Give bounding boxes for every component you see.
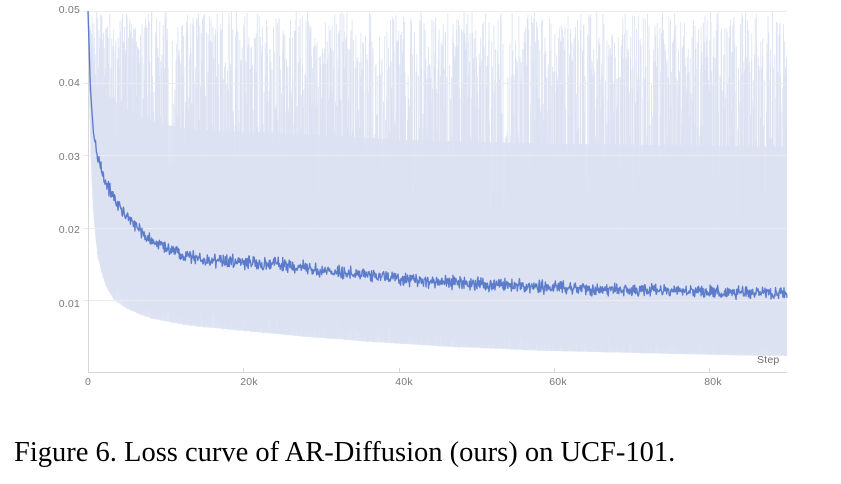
y-tick-label-0.03: 0.03 bbox=[20, 152, 80, 163]
x-tick-label-0: 0 bbox=[58, 377, 118, 388]
figure-page: 0.05 0.04 0.03 0.02 0.01 0 20k 40k 60k 8… bbox=[0, 0, 841, 484]
figure-caption: Figure 6. Loss curve of AR-Diffusion (ou… bbox=[14, 433, 834, 473]
x-axis-label: Step bbox=[757, 354, 779, 366]
loss-chart-plot bbox=[0, 0, 841, 410]
loss-curve-figure: 0.05 0.04 0.03 0.02 0.01 0 20k 40k 60k 8… bbox=[0, 0, 841, 410]
y-tick-label-0.04: 0.04 bbox=[20, 78, 80, 89]
x-tick-label-20k: 20k bbox=[219, 377, 279, 388]
x-tick-label-40k: 40k bbox=[374, 377, 434, 388]
x-tick-label-80k: 80k bbox=[683, 377, 743, 388]
y-tick-label-0.05: 0.05 bbox=[20, 5, 80, 16]
y-tick-label-0.01: 0.01 bbox=[20, 299, 80, 310]
y-tick-label-0.02: 0.02 bbox=[20, 225, 80, 236]
x-tick-label-60k: 60k bbox=[528, 377, 588, 388]
